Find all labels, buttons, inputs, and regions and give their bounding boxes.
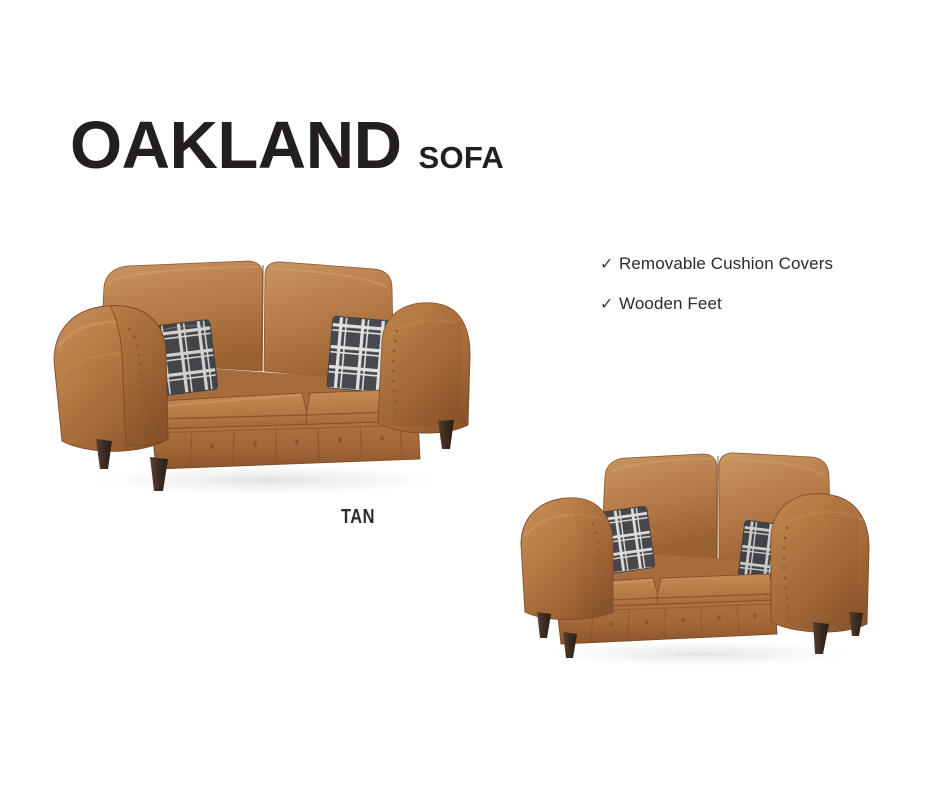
feature-label: Wooden Feet [619, 292, 722, 317]
page-title: OAKLAND SOFA [70, 112, 504, 179]
product-type: SOFA [418, 142, 504, 173]
arm-right [771, 494, 869, 632]
check-icon: ✓ [600, 293, 619, 316]
arm-left [54, 306, 168, 452]
feature-item: ✓ Removable Cushion Covers [600, 252, 900, 277]
product-name: OAKLAND [70, 112, 401, 179]
feature-label: Removable Cushion Covers [619, 252, 833, 277]
arm-right [378, 303, 470, 433]
check-icon: ✓ [600, 253, 619, 276]
sofa-image-small [505, 432, 885, 677]
sofa-image-large [52, 243, 472, 503]
feature-list: ✓ Removable Cushion Covers ✓ Wooden Feet [600, 252, 900, 331]
feature-item: ✓ Wooden Feet [600, 292, 900, 317]
base-skirt [152, 421, 420, 469]
foot-right-back [849, 612, 863, 636]
product-banner: OAKLAND SOFA ✓ Removable Cushion Covers … [0, 0, 940, 788]
foot-left-back [537, 612, 551, 638]
foot-right-back [438, 420, 454, 449]
arm-left [521, 498, 613, 620]
foot-left-back [96, 439, 112, 469]
color-label: TAN [341, 506, 375, 529]
floor-shadow [540, 640, 860, 668]
floor-shadow [82, 464, 452, 496]
